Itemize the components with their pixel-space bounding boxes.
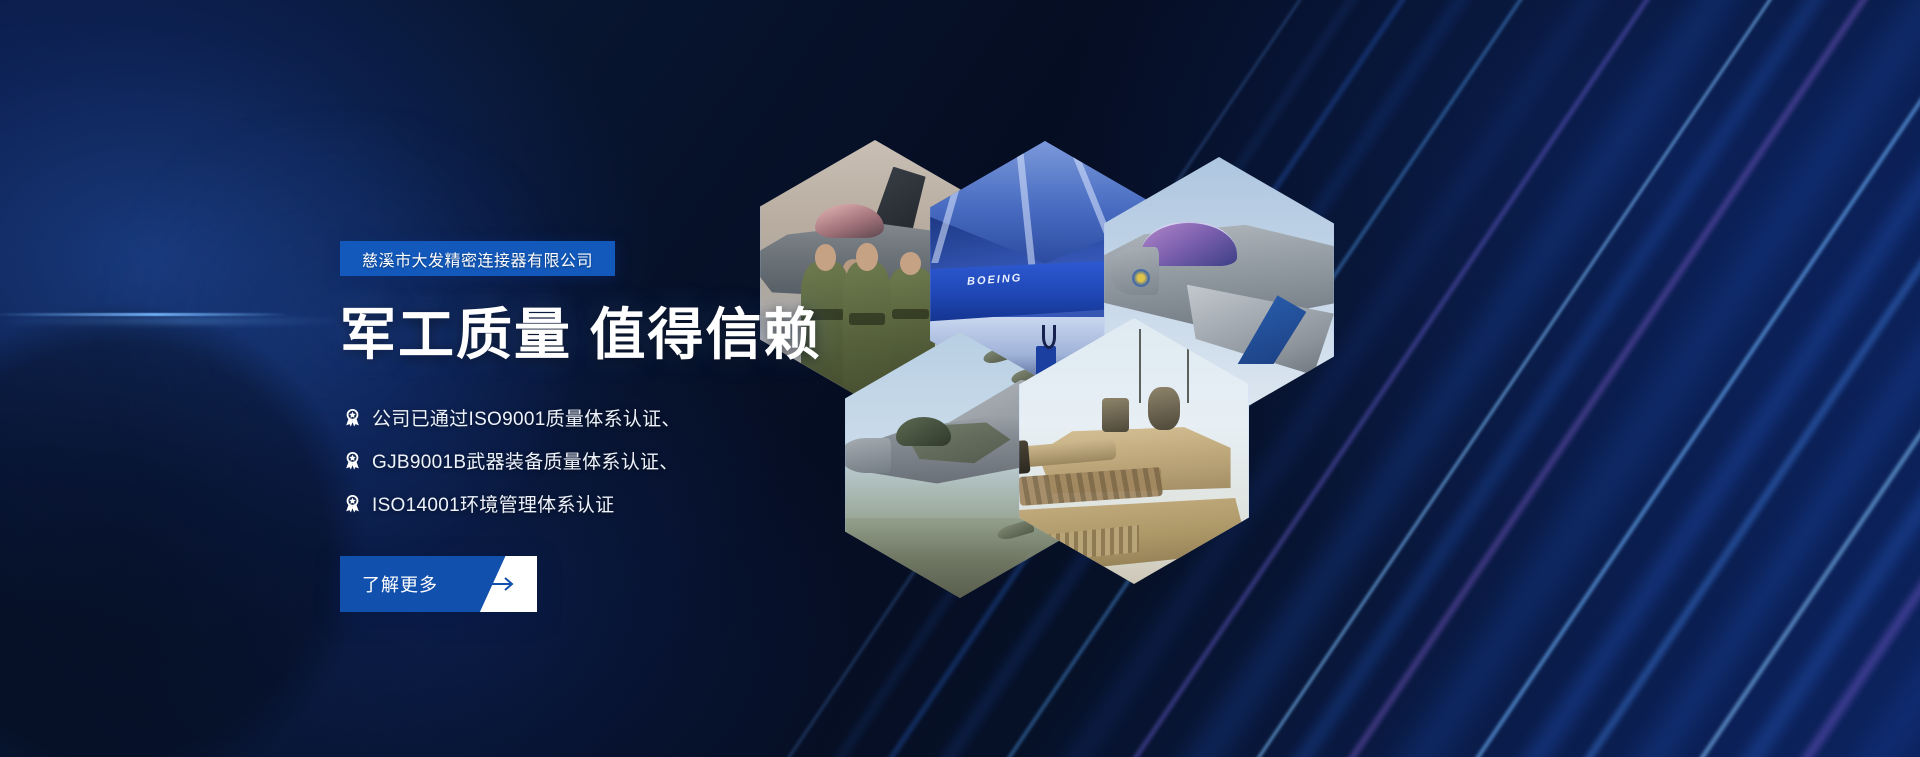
- arrow-right-icon: [473, 556, 523, 612]
- certification-list: 公司已通过ISO9001质量体系认证、 GJB9001B武器装备质量体系认证、 …: [342, 404, 681, 533]
- learn-more-button[interactable]: 了解更多: [340, 556, 537, 612]
- medal-icon: [342, 493, 362, 513]
- learn-more-label: 了解更多: [362, 556, 438, 612]
- hero-content: 慈溪市大发精密连接器有限公司 军工质量 值得信赖 公司已通过ISO9001质量体…: [340, 0, 1100, 757]
- company-name-label: 慈溪市大发精密连接器有限公司: [362, 247, 593, 271]
- hero-banner: BOEING: [0, 0, 1920, 757]
- certification-label: GJB9001B武器装备质量体系认证、: [372, 447, 679, 474]
- company-name-badge: 慈溪市大发精密连接器有限公司: [340, 241, 615, 276]
- medal-icon: [342, 450, 362, 470]
- certification-item: ISO14001环境管理体系认证: [342, 490, 681, 516]
- page-title: 军工质量 值得信赖: [340, 290, 1040, 371]
- certification-label: ISO14001环境管理体系认证: [372, 490, 614, 517]
- medal-icon: [342, 407, 362, 427]
- certification-item: GJB9001B武器装备质量体系认证、: [342, 447, 681, 473]
- certification-label: 公司已通过ISO9001质量体系认证、: [372, 404, 681, 431]
- certification-item: 公司已通过ISO9001质量体系认证、: [342, 404, 681, 430]
